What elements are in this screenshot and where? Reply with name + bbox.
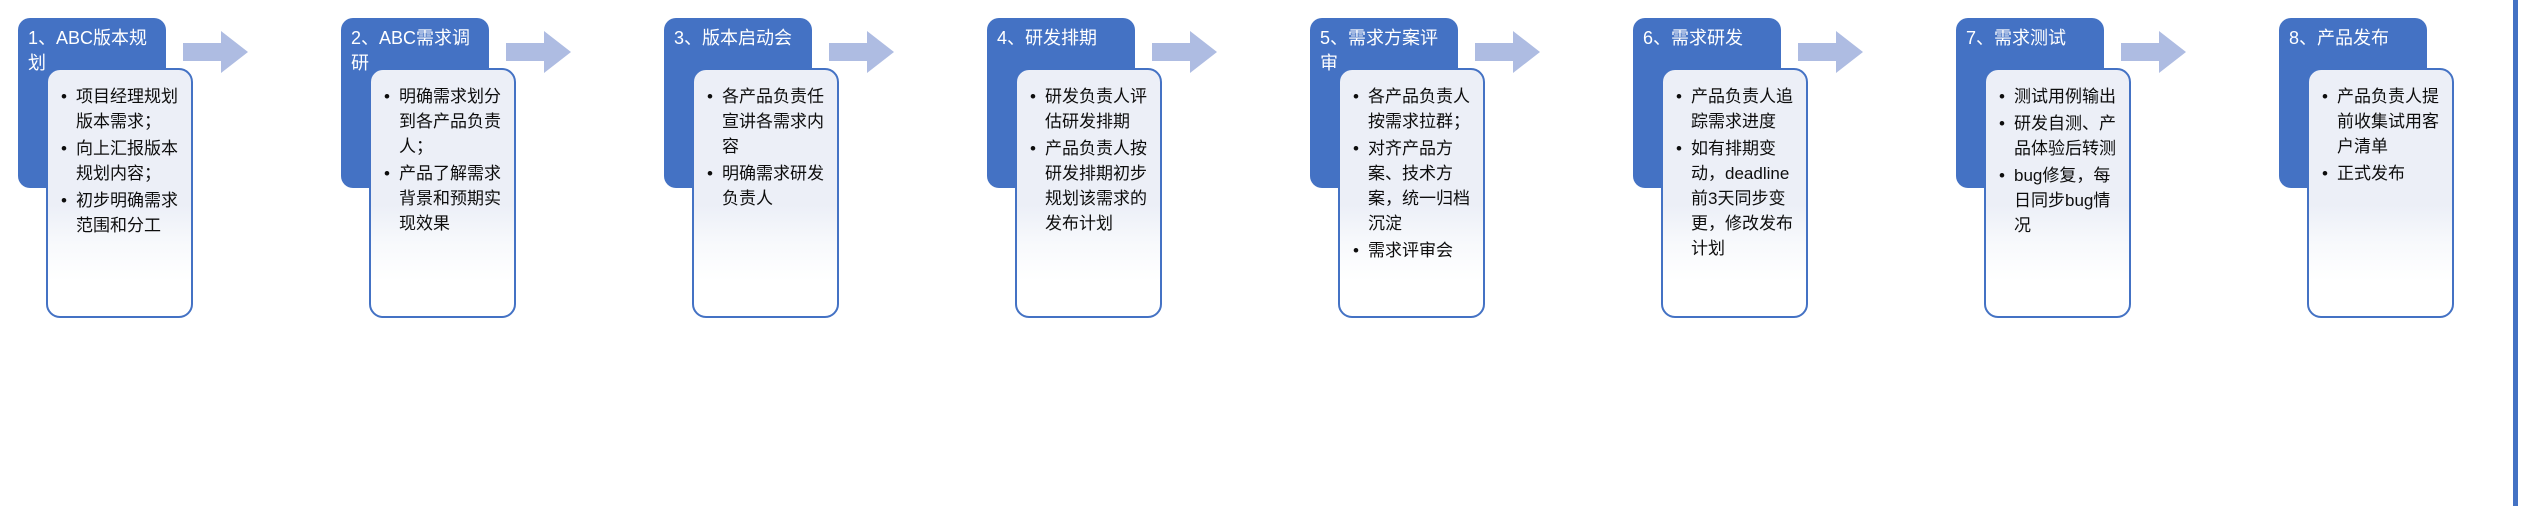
step-detail-card: 产品负责人提前收集试用客户清单正式发布 (2307, 68, 2454, 318)
process-step: 2、ABC需求调研明确需求划分到各产品负责人；产品了解需求背景和预期实现效果 (341, 18, 489, 318)
process-step: 3、版本启动会各产品负责任宣讲各需求内容明确需求研发负责人 (664, 18, 812, 318)
step-bullet-item: 需求评审会 (1368, 238, 1475, 263)
step-bullet-list: 各产品负责任宣讲各需求内容明确需求研发负责人 (700, 84, 829, 211)
step-title: 7、需求测试 (1966, 26, 2096, 51)
process-step: 4、研发排期研发负责人评估研发排期产品负责人按研发排期初步规划该需求的发布计划 (987, 18, 1135, 318)
process-step: 8、产品发布产品负责人提前收集试用客户清单正式发布 (2279, 18, 2427, 318)
step-title: 4、研发排期 (997, 26, 1127, 51)
step-bullet-item: 产品负责人按研发排期初步规划该需求的发布计划 (1045, 136, 1152, 236)
step-detail-card: 各产品负责人按需求拉群；对齐产品方案、技术方案，统一归档沉淀需求评审会 (1338, 68, 1485, 318)
step-bullet-item: 测试用例输出 (2014, 84, 2121, 109)
step-bullet-list: 明确需求划分到各产品负责人；产品了解需求背景和预期实现效果 (377, 84, 506, 236)
step-title: 8、产品发布 (2289, 26, 2419, 51)
slide-edge-rule (2513, 0, 2518, 506)
step-title: 6、需求研发 (1643, 26, 1773, 51)
step-bullet-item: 产品负责人追踪需求进度 (1691, 84, 1798, 134)
step-detail-card: 测试用例输出研发自测、产品体验后转测bug修复，每日同步bug情况 (1984, 68, 2131, 318)
step-title: 3、版本启动会 (674, 26, 804, 51)
step-bullet-item: 产品了解需求背景和预期实现效果 (399, 161, 506, 236)
step-bullet-item: 如有排期变动，deadline前3天同步变更，修改发布计划 (1691, 136, 1798, 261)
right-arrow-connector (506, 30, 572, 74)
step-bullet-item: 各产品负责人按需求拉群； (1368, 84, 1475, 134)
process-step: 7、需求测试测试用例输出研发自测、产品体验后转测bug修复，每日同步bug情况 (1956, 18, 2104, 318)
step-bullet-item: 明确需求划分到各产品负责人； (399, 84, 506, 159)
right-arrow-connector (183, 30, 249, 74)
step-bullet-item: 各产品负责任宣讲各需求内容 (722, 84, 829, 159)
step-bullet-list: 研发负责人评估研发排期产品负责人按研发排期初步规划该需求的发布计划 (1023, 84, 1152, 236)
step-bullet-list: 产品负责人追踪需求进度如有排期变动，deadline前3天同步变更，修改发布计划 (1669, 84, 1798, 261)
right-arrow-connector (829, 30, 895, 74)
step-bullet-item: 向上汇报版本规划内容； (76, 136, 183, 186)
step-bullet-item: 初步明确需求范围和分工 (76, 188, 183, 238)
right-arrow-connector (1475, 30, 1541, 74)
step-bullet-list: 各产品负责人按需求拉群；对齐产品方案、技术方案，统一归档沉淀需求评审会 (1346, 84, 1475, 263)
step-bullet-item: 项目经理规划版本需求； (76, 84, 183, 134)
right-arrow-connector (1798, 30, 1864, 74)
process-step: 6、需求研发产品负责人追踪需求进度如有排期变动，deadline前3天同步变更，… (1633, 18, 1781, 318)
step-detail-card: 各产品负责任宣讲各需求内容明确需求研发负责人 (692, 68, 839, 318)
step-detail-card: 项目经理规划版本需求；向上汇报版本规划内容；初步明确需求范围和分工 (46, 68, 193, 318)
step-bullet-item: 研发自测、产品体验后转测 (2014, 111, 2121, 161)
step-bullet-item: bug修复，每日同步bug情况 (2014, 163, 2121, 238)
step-detail-card: 明确需求划分到各产品负责人；产品了解需求背景和预期实现效果 (369, 68, 516, 318)
right-arrow-connector (2121, 30, 2187, 74)
step-bullet-list: 测试用例输出研发自测、产品体验后转测bug修复，每日同步bug情况 (1992, 84, 2121, 238)
step-bullet-list: 项目经理规划版本需求；向上汇报版本规划内容；初步明确需求范围和分工 (54, 84, 183, 238)
step-bullet-item: 正式发布 (2337, 161, 2444, 186)
step-detail-card: 研发负责人评估研发排期产品负责人按研发排期初步规划该需求的发布计划 (1015, 68, 1162, 318)
step-bullet-item: 对齐产品方案、技术方案，统一归档沉淀 (1368, 136, 1475, 236)
process-step: 1、ABC版本规划项目经理规划版本需求；向上汇报版本规划内容；初步明确需求范围和… (18, 18, 166, 318)
process-step: 5、需求方案评审各产品负责人按需求拉群；对齐产品方案、技术方案，统一归档沉淀需求… (1310, 18, 1458, 318)
process-flow-diagram: 1、ABC版本规划项目经理规划版本需求；向上汇报版本规划内容；初步明确需求范围和… (0, 0, 2534, 506)
step-bullet-list: 产品负责人提前收集试用客户清单正式发布 (2315, 84, 2444, 186)
right-arrow-connector (1152, 30, 1218, 74)
step-bullet-item: 产品负责人提前收集试用客户清单 (2337, 84, 2444, 159)
step-detail-card: 产品负责人追踪需求进度如有排期变动，deadline前3天同步变更，修改发布计划 (1661, 68, 1808, 318)
step-bullet-item: 研发负责人评估研发排期 (1045, 84, 1152, 134)
step-bullet-item: 明确需求研发负责人 (722, 161, 829, 211)
